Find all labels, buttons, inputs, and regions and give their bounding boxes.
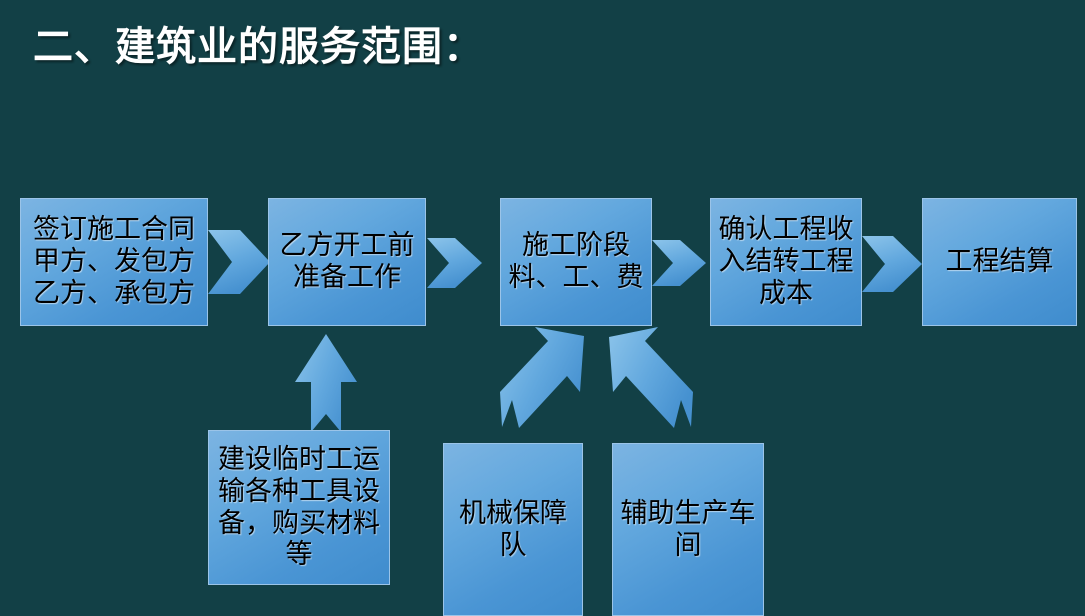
arrow-step1-step2: [208, 230, 270, 294]
process-box-step-1[interactable]: 签订施工合同甲方、发包方乙方、承包方: [20, 198, 208, 326]
arrow-support1-step2: [295, 334, 357, 432]
arrow-step2-step3: [427, 238, 482, 288]
support-box-2[interactable]: 机械保障队: [443, 443, 583, 616]
arrow-support2-step3: [500, 327, 584, 428]
slide-canvas: 二、建筑业的服务范围： 签: [0, 0, 1085, 616]
process-box-label: 乙方开工前准备工作: [275, 230, 419, 294]
support-box-3[interactable]: 辅助生产车间: [612, 443, 764, 616]
process-box-label: 签订施工合同甲方、发包方乙方、承包方: [27, 214, 201, 310]
support-box-label: 建设临时工运输各种工具设备，购买材料等: [215, 444, 383, 571]
arrow-step3-step4: [652, 240, 706, 286]
support-box-label: 机械保障队: [450, 498, 576, 562]
process-box-label: 工程结算: [946, 246, 1054, 278]
page-title: 二、建筑业的服务范围：: [33, 14, 484, 72]
process-box-step-5[interactable]: 工程结算: [922, 198, 1077, 326]
process-box-label: 确认工程收入结转工程成本: [717, 214, 855, 310]
process-box-step-2[interactable]: 乙方开工前准备工作: [268, 198, 426, 326]
process-box-label: 施工阶段料、工、费: [507, 230, 645, 294]
process-box-step-4[interactable]: 确认工程收入结转工程成本: [710, 198, 862, 326]
support-box-label: 辅助生产车间: [619, 498, 757, 562]
arrow-step4-step5: [862, 236, 922, 292]
process-box-step-3[interactable]: 施工阶段料、工、费: [500, 198, 652, 326]
support-box-1[interactable]: 建设临时工运输各种工具设备，购买材料等: [208, 430, 390, 585]
arrow-support3-step3: [609, 327, 693, 428]
